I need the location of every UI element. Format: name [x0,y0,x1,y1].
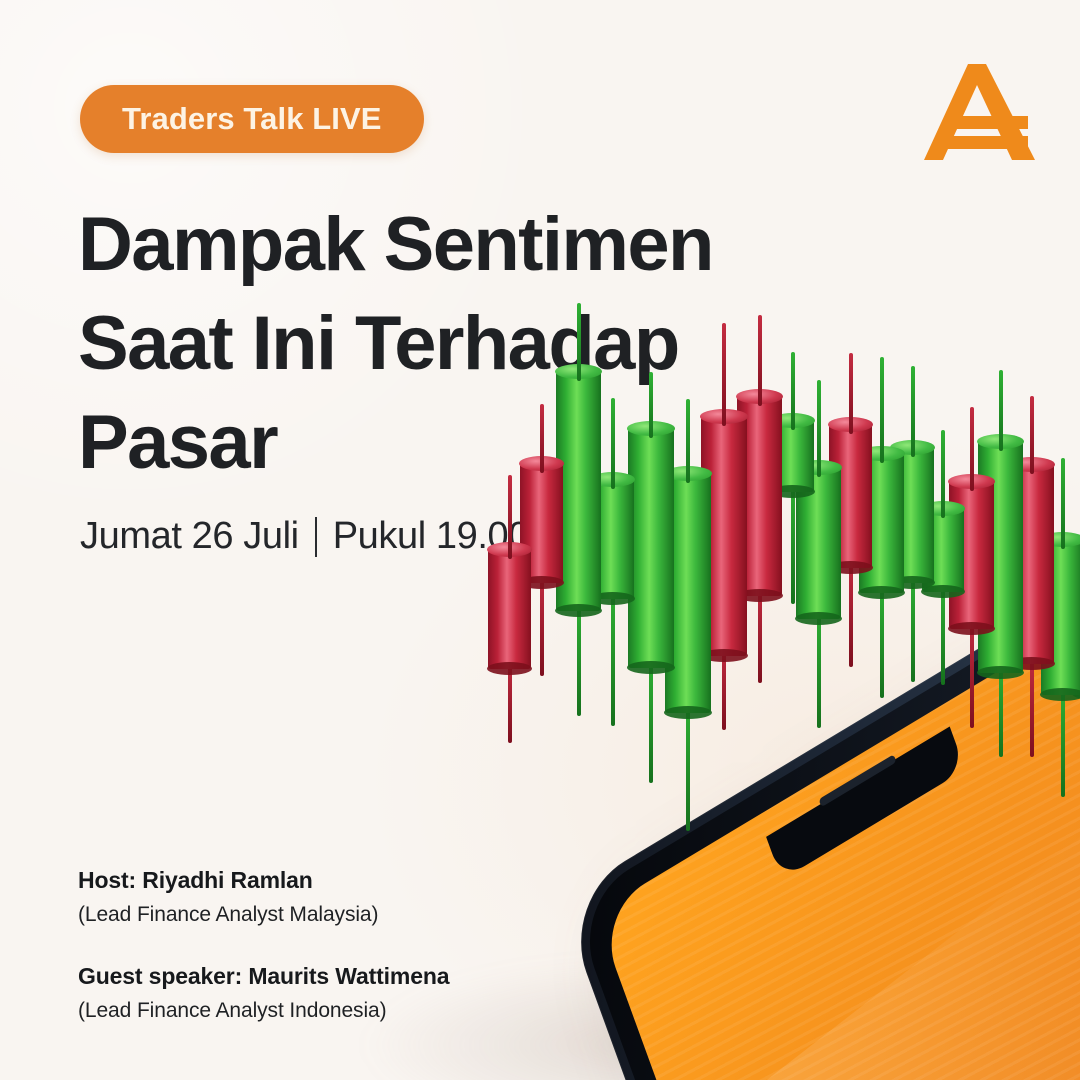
candle-upper-wick [849,353,853,434]
candle-top-ellipse [1072,623,1080,638]
candlestick-13-green [891,447,934,583]
headline-line-3: Pasar [78,394,838,493]
candle-body [891,447,934,583]
phone-body [560,564,1080,1080]
candle-base-ellipse [700,649,748,662]
candle-body [488,549,531,669]
candle-lower-wick [649,658,653,783]
candle-body [922,508,964,592]
headline-line-1: Dampak Sentimen [78,196,838,295]
screen-sheen [609,718,1080,1080]
candle-lower-wick [791,482,795,604]
candle-top-ellipse [977,434,1024,449]
candlestick-17-red [1009,464,1054,664]
candle-upper-wick [1061,458,1065,549]
candle-body [1041,539,1080,695]
candle-base-ellipse [828,561,873,574]
candle-body [1073,630,1080,694]
candle-base-ellipse [890,576,935,589]
candle-body [1009,464,1054,664]
candle-top-ellipse [890,440,935,455]
phone-rim [571,577,1080,1080]
candle-upper-wick [1030,396,1034,474]
live-badge-label: Traders Talk LIVE [122,101,382,137]
candle-base-ellipse [1008,657,1055,670]
candle-upper-wick [970,407,974,491]
guest-speaker-block: Guest speaker: Maurits Wattimena (Lead F… [78,962,548,1024]
candle-top-ellipse [1040,532,1080,547]
candle-body [978,441,1023,673]
guest-speaker-role: (Lead Finance Analyst Indonesia) [78,997,548,1024]
candle-top-ellipse [948,474,995,489]
guest-speaker-name: Guest speaker: Maurits Wattimena [78,962,548,991]
candle-lower-wick [577,601,581,716]
candle-base-ellipse [590,592,635,605]
candle-lower-wick [941,582,945,685]
candle-base-ellipse [1072,687,1080,700]
candle-lower-wick [817,609,821,728]
candle-base-ellipse [1040,688,1080,701]
candlestick-18-green [1041,539,1080,695]
poster-canvas: Traders Talk LIVE Dampak Sentimen Saat I… [0,0,1080,1080]
candlestick-15-red [949,481,994,629]
candlestick-6-green [665,473,711,713]
candle-lower-wick [722,646,726,730]
candle-base-ellipse [487,662,532,675]
candle-top-ellipse [921,501,965,516]
candle-lower-wick [880,583,884,698]
candle-lower-wick [540,573,544,676]
candle-base-ellipse [795,612,842,625]
candle-top-ellipse [1008,457,1055,472]
screen-stripe-texture [596,607,1080,1080]
candle-upper-wick [999,370,1003,451]
candle-base-ellipse [858,586,905,599]
candle-lower-wick [970,619,974,728]
candle-base-ellipse [627,661,675,674]
candle-upper-wick [880,357,884,463]
speakers-block: Host: Riyadhi Ramlan (Lead Finance Analy… [78,866,548,1024]
candle-base-ellipse [519,576,564,589]
candle-upper-wick [941,430,945,518]
candle-body [665,473,711,713]
phone-earpiece [819,754,897,807]
candle-base-ellipse [555,604,602,617]
live-badge[interactable]: Traders Talk LIVE [80,85,424,153]
candle-base-ellipse [948,622,995,635]
headline-line-2: Saat Ini Terhadap [78,295,838,394]
candle-lower-wick [1030,654,1034,757]
candlestick-16-green [978,441,1023,673]
candle-base-ellipse [664,706,712,719]
candle-lower-wick [999,663,1003,757]
candlestick-14-green [922,508,964,592]
host-name: Host: Riyadhi Ramlan [78,866,548,895]
smartphone-device [560,564,1080,1080]
candle-base-ellipse [977,666,1024,679]
candle-lower-wick [1061,685,1065,797]
candle-body [859,453,904,593]
candlestick-1-red [488,549,531,669]
candle-lower-wick [508,659,512,743]
page-title: Dampak Sentimen Saat Ini Terhadap Pasar [78,196,838,492]
event-time: Pukul 19.00 WIB [333,515,610,558]
candle-base-ellipse [921,585,965,598]
phone-screen [596,607,1080,1080]
candle-lower-wick [611,589,615,726]
candle-lower-wick [911,573,915,682]
candle-base-ellipse [736,589,783,602]
event-date: Jumat 26 Juli [80,515,299,558]
candlestick-19-green [1073,630,1080,694]
phone-notch [766,727,965,880]
candle-lower-wick [758,586,762,683]
host-block: Host: Riyadhi Ramlan (Lead Finance Analy… [78,866,548,928]
datetime-separator [315,517,317,557]
candle-body [949,481,994,629]
candle-lower-wick [849,558,853,667]
candle-upper-wick [911,366,915,457]
candlestick-12-green [859,453,904,593]
brand-logo-a-icon [922,58,1040,166]
candle-top-ellipse [858,446,905,461]
host-role: (Lead Finance Analyst Malaysia) [78,901,548,928]
event-datetime: Jumat 26 Juli Pukul 19.00 WIB [80,515,610,558]
candle-lower-wick [686,703,690,831]
